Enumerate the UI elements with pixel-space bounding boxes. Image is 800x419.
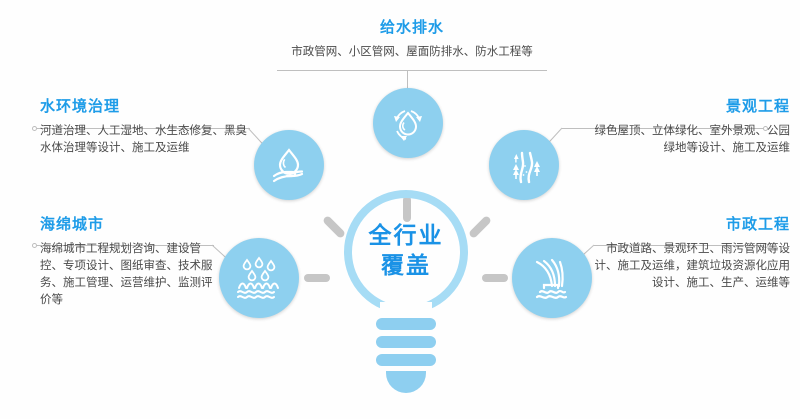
fountain-water-jets-icon (512, 238, 592, 318)
branch-heading: 给水排水 (272, 18, 552, 38)
branch-description: 绿色屋顶、立体绿化、室外景观、公园绿地等设计、施工及运维 (590, 123, 790, 157)
branch-heading: 海绵城市 (40, 215, 220, 235)
branch-label-water-environment: 水环境治理 河道治理、人工湿地、水生态修复、黑臭水体治理等设计、施工及运维 (40, 97, 255, 157)
diagram-canvas: 全行业 覆盖 (0, 0, 800, 419)
center-label-line2: 覆盖 (344, 250, 468, 280)
branch-heading: 市政工程 (588, 215, 790, 235)
water-drop-recycle-icon (373, 88, 443, 158)
branch-heading: 水环境治理 (40, 97, 255, 117)
branch-label-water-supply-drainage: 给水排水 市政管网、小区管网、屋面防排水、防水工程等 (272, 18, 552, 61)
rain-on-grass-icon (219, 238, 299, 318)
bulb-base (386, 371, 426, 393)
branch-label-municipal-engineering: 市政工程 市政道路、景观环卫、雨污管网等设计、施工及运维，建筑垃圾资源化应用设计… (588, 215, 790, 292)
bulb-screw-bar-1 (376, 318, 436, 330)
branch-description: 海绵城市工程规划咨询、建设管控、专项设计、图纸审查、技术服务、施工管理、运营维护… (40, 241, 220, 309)
branch-label-landscape-engineering: 景观工程 绿色屋顶、立体绿化、室外景观、公园绿地等设计、施工及运维 (590, 97, 790, 157)
branch-description: 河道治理、人工湿地、水生态修复、黑臭水体治理等设计、施工及运维 (40, 123, 255, 157)
bulb-screw-bar-2 (376, 336, 436, 348)
branch-description: 市政道路、景观环卫、雨污管网等设计、施工及运维，建筑垃圾资源化应用设计、施工、生… (588, 241, 790, 292)
bulb-screw-bar-3 (376, 354, 436, 366)
branch-description: 市政管网、小区管网、屋面防排水、防水工程等 (272, 44, 552, 61)
hand-holding-waterdrop-icon (254, 130, 324, 200)
lightbulb-graphic: 全行业 覆盖 (318, 190, 494, 410)
center-label-line1: 全行业 (344, 220, 468, 250)
center-label: 全行业 覆盖 (344, 220, 468, 280)
trees-and-path-icon (489, 130, 559, 200)
branch-heading: 景观工程 (590, 97, 790, 117)
branch-label-sponge-city: 海绵城市 海绵城市工程规划咨询、建设管控、专项设计、图纸审查、技术服务、施工管理… (40, 215, 220, 309)
